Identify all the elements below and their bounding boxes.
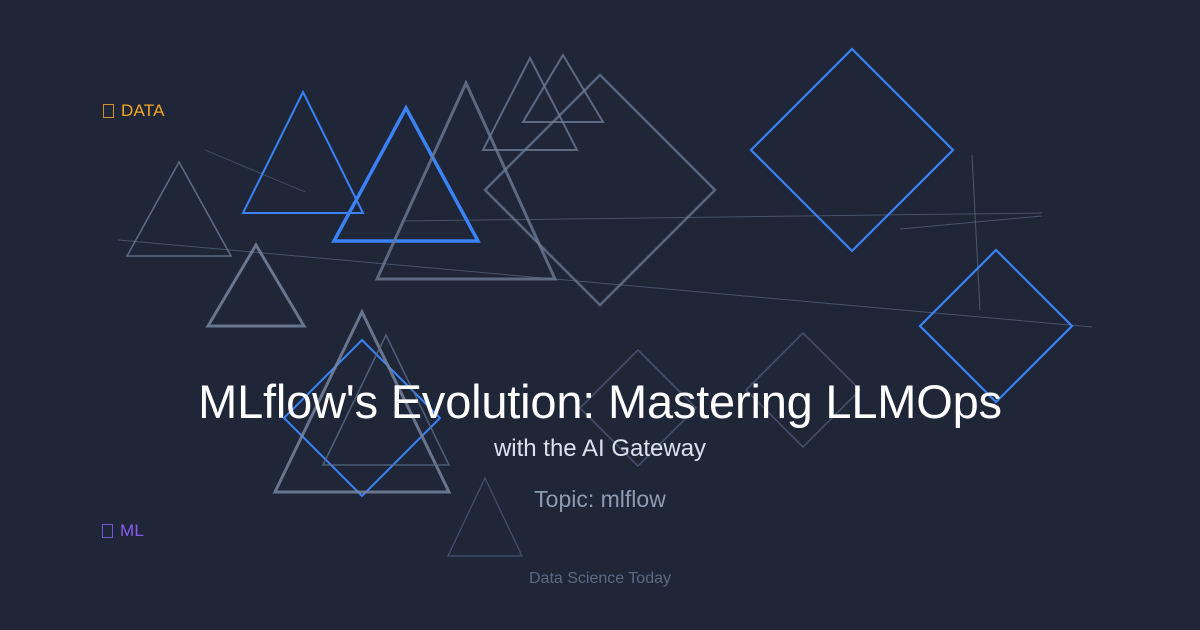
line-4 (900, 216, 1042, 229)
line-3 (404, 213, 1042, 221)
tag-data: DATA (103, 101, 165, 121)
tag-ml: ML (102, 521, 144, 541)
gray-diamond-right (746, 333, 860, 447)
gray-diamond-mid (580, 350, 696, 466)
background-shape-decoration (0, 0, 1200, 630)
tag-ml-label: ML (120, 521, 144, 541)
blue-triangle-left (243, 92, 363, 213)
line-5 (972, 155, 980, 310)
line-2 (118, 240, 1092, 327)
gray-triangle-top (483, 58, 577, 150)
blue-diamond-topright (751, 49, 953, 251)
blue-diamond-left (284, 340, 440, 496)
tag-data-label: DATA (121, 101, 165, 121)
gray-triangle-bottom (448, 478, 522, 556)
box-glyph-icon (103, 104, 114, 118)
box-glyph-icon (102, 524, 113, 538)
line-1 (205, 150, 305, 192)
blue-diamond-right (920, 250, 1072, 402)
gray-triangle-left (208, 245, 304, 326)
slide-canvas: DATA ML MLflow's Evolution: Mastering LL… (0, 0, 1200, 630)
gray-diamond-center (485, 75, 715, 305)
